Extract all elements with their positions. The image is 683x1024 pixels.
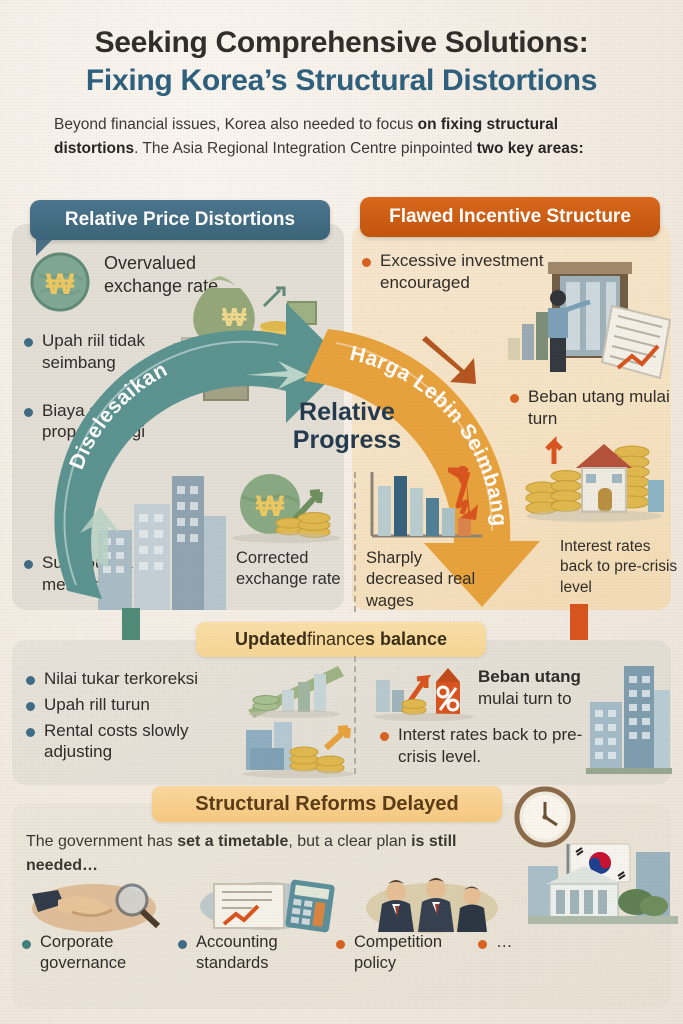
subtitle-part-1: Beyond financial issues, Korea also need…: [54, 116, 418, 133]
list-item: Interst rates back to pre-crisis level.: [380, 724, 595, 768]
page-title: Seeking Comprehensive Solutions: Fixing …: [0, 26, 683, 98]
list-item: Rental costs slowly adjusting: [26, 720, 256, 764]
list-item: Nilai tukar terkoreksi: [26, 668, 256, 690]
bullet-dot-icon: [24, 408, 33, 417]
bullet-dot-icon: [26, 728, 35, 737]
buildings-coins-growth-icon: [240, 718, 360, 780]
interest-rates-caption: Interest rates back to pre-crisis level: [560, 537, 680, 598]
reform-item-label: Accounting standards: [196, 932, 336, 974]
middle-right-heading-bold: Beban utang: [478, 667, 581, 686]
document-calculator-icon: [196, 876, 346, 934]
ribbon-updated-finance-balance: Updated finance s balance: [196, 622, 486, 657]
center-relative-progress-label: Relative Progress: [262, 398, 432, 454]
infographic-page: Seeking Comprehensive Solutions: Fixing …: [0, 0, 683, 1024]
title-line-1: Seeking Comprehensive Solutions:: [0, 26, 683, 60]
bullet-dot-icon: [380, 732, 389, 741]
subtitle-part-2: . The Asia Regional Integration Centre p…: [134, 140, 477, 157]
ribbon-structural-reforms-delayed: Structural Reforms Delayed: [152, 786, 502, 822]
handshake-magnifier-icon: [28, 878, 168, 934]
reform-item-label: Corporate governance: [40, 932, 178, 974]
mid-caption-divider: [354, 472, 356, 612]
reform-text-bold-1: set a timetable: [177, 833, 288, 850]
decreasing-wages-bars-icon: [366, 466, 486, 546]
bullet-dot-icon: [24, 338, 33, 347]
bullet-dot-icon: [336, 940, 345, 949]
reform-item-competition-policy[interactable]: Competition policy: [336, 932, 478, 974]
bullet-label: Upah rill turun: [44, 694, 150, 716]
list-item: Upah rill turun: [26, 694, 256, 716]
bullet-dot-icon: [362, 258, 371, 267]
reform-text-part-2: , but a clear plan: [288, 833, 411, 850]
title-line-2: Fixing Korea’s Structural Distortions: [0, 64, 683, 98]
bullet-dot-icon: [178, 940, 187, 949]
bullet-label: Rental costs slowly adjusting: [44, 720, 256, 764]
ribbon-updated-bold2: s balance: [365, 629, 447, 650]
middle-right-heading-normal: mulai turn to: [478, 689, 572, 708]
caption-corrected-exchange-rate: Corrected exchange rate: [236, 548, 346, 591]
ribbon-updated-normal: finance: [307, 629, 365, 650]
reform-item-accounting-standards[interactable]: Accounting standards: [178, 932, 336, 974]
reform-text-part-1: The government has: [26, 833, 177, 850]
bullet-dot-icon: [22, 940, 31, 949]
government-building-flag-icon: [528, 828, 678, 940]
middle-left-bullets: Nilai tukar terkoreksi Upah rill turun R…: [26, 668, 256, 767]
bullet-dot-icon: [26, 702, 35, 711]
middle-right-bullet: Interst rates back to pre-crisis level.: [380, 724, 595, 774]
middle-panel-divider: [354, 656, 356, 774]
header-relative-price-distortions[interactable]: Relative Price Distortions: [30, 200, 330, 240]
bullet-dot-icon: [24, 560, 33, 569]
caption-sharply-decreased-real-wages: Sharply decreased real wages: [366, 548, 476, 612]
bullet-dot-icon: [478, 940, 487, 949]
reform-item-more[interactable]: …: [478, 932, 513, 953]
subtitle-bold-2: two key areas:: [477, 140, 584, 157]
svg-text:₩: ₩: [256, 490, 285, 523]
tower-buildings-icon: [586, 660, 672, 778]
bullet-label: Nilai tukar terkoreksi: [44, 668, 198, 690]
bullet-label: Interst rates back to pre-crisis level.: [398, 724, 595, 768]
reform-item-label: Competition policy: [354, 932, 478, 974]
reform-item-corporate-governance[interactable]: Corporate governance: [22, 932, 178, 974]
corrected-exchange-rate-icon: ₩: [228, 468, 346, 546]
subtitle: Beyond financial issues, Korea also need…: [54, 113, 634, 161]
businesspeople-icon: [362, 874, 502, 934]
ribbon-updated-bold: Updated: [235, 629, 307, 650]
debt-percent-icon: [372, 660, 482, 722]
header-flawed-incentive-structure[interactable]: Flawed Incentive Structure: [360, 197, 660, 237]
growth-chart-cash-icon: [242, 660, 352, 718]
bullet-dot-icon: [26, 676, 35, 685]
bottom-reform-items: Corporate governance Accounting standard…: [22, 932, 642, 974]
pill-tail-left: [36, 238, 54, 256]
reform-item-label: …: [496, 932, 513, 953]
reform-description: The government has set a timetable, but …: [26, 830, 506, 878]
